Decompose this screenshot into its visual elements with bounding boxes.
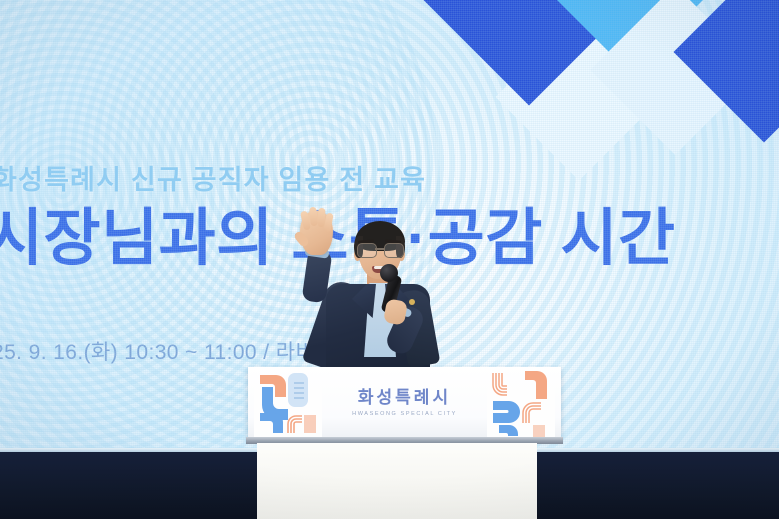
slide-subtitle: 화성특례시 신규 공직자 임용 전 교육 xyxy=(0,158,426,197)
podium-city-logo: 화성특례시 HWASEONG SPECIAL CITY xyxy=(248,383,561,417)
podium-banner: 화성특례시 HWASEONG SPECIAL CITY xyxy=(248,367,561,439)
diamond-shape-sky-blue xyxy=(531,0,729,73)
podium-logo-english: HWASEONG SPECIAL CITY xyxy=(248,411,561,417)
diamond-shape-pale xyxy=(590,0,760,155)
diamond-shape-deep-blue xyxy=(422,0,637,105)
diamond-shape-deep-blue-right xyxy=(673,0,779,143)
podium-logo-korean: 화성특례시 xyxy=(248,383,561,408)
slide-title: 시장님과의 소통·공감 시간 xyxy=(0,208,676,270)
event-photo-scene: 화성특례시 신규 공직자 임용 전 교육 시장님과의 소통·공감 시간 25. … xyxy=(0,0,779,519)
diamond-shape-pale-secondary xyxy=(496,14,663,181)
podium-front-panel xyxy=(257,443,537,519)
slide-meta-datetime-venue: 25. 9. 16.(화) 10:30 ~ 11:00 / 라비돌리조트 신 xyxy=(0,336,420,366)
